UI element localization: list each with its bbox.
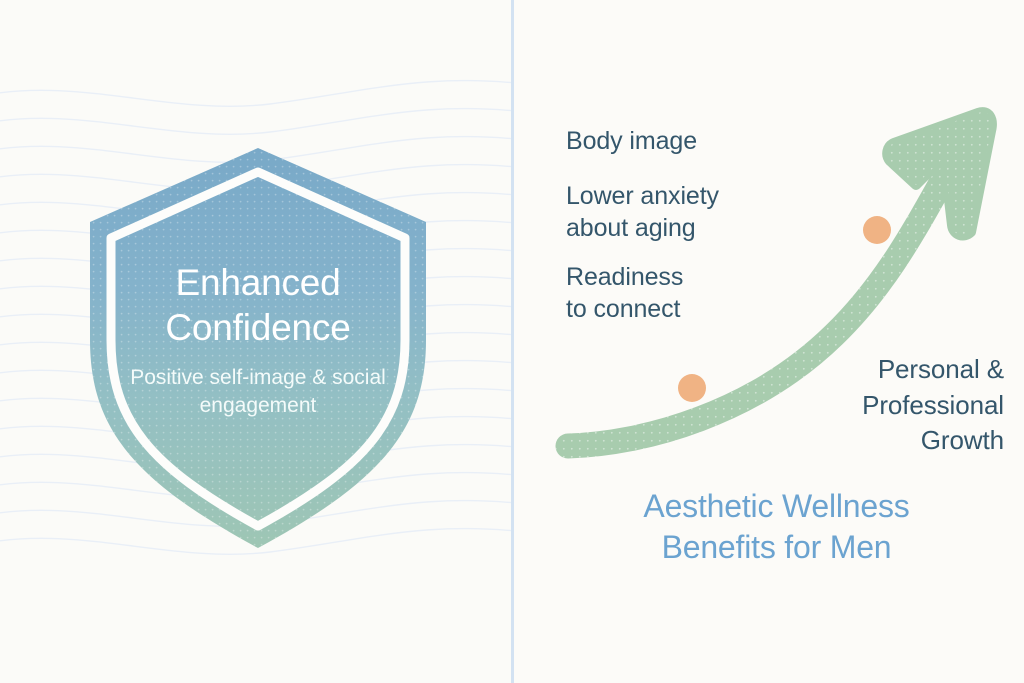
shield-badge: Enhanced Confidence Positive self-image … xyxy=(78,130,438,550)
shield-icon xyxy=(78,130,438,550)
benefit-item-0: Body image xyxy=(566,126,697,158)
right-panel: Body image Lower anxiety about aging Rea… xyxy=(514,0,1024,683)
page-title: Aesthetic Wellness Benefits for Men xyxy=(549,486,1004,568)
infographic-canvas: Enhanced Confidence Positive self-image … xyxy=(0,0,1024,683)
milestone-dot xyxy=(678,374,706,402)
benefit-item-1: Lower anxiety about aging xyxy=(566,181,719,244)
left-panel: Enhanced Confidence Positive self-image … xyxy=(0,0,512,683)
benefit-item-2: Readiness to connect xyxy=(566,262,683,325)
growth-label: Personal & Professional Growth xyxy=(754,352,1004,459)
milestone-dot xyxy=(863,216,891,244)
